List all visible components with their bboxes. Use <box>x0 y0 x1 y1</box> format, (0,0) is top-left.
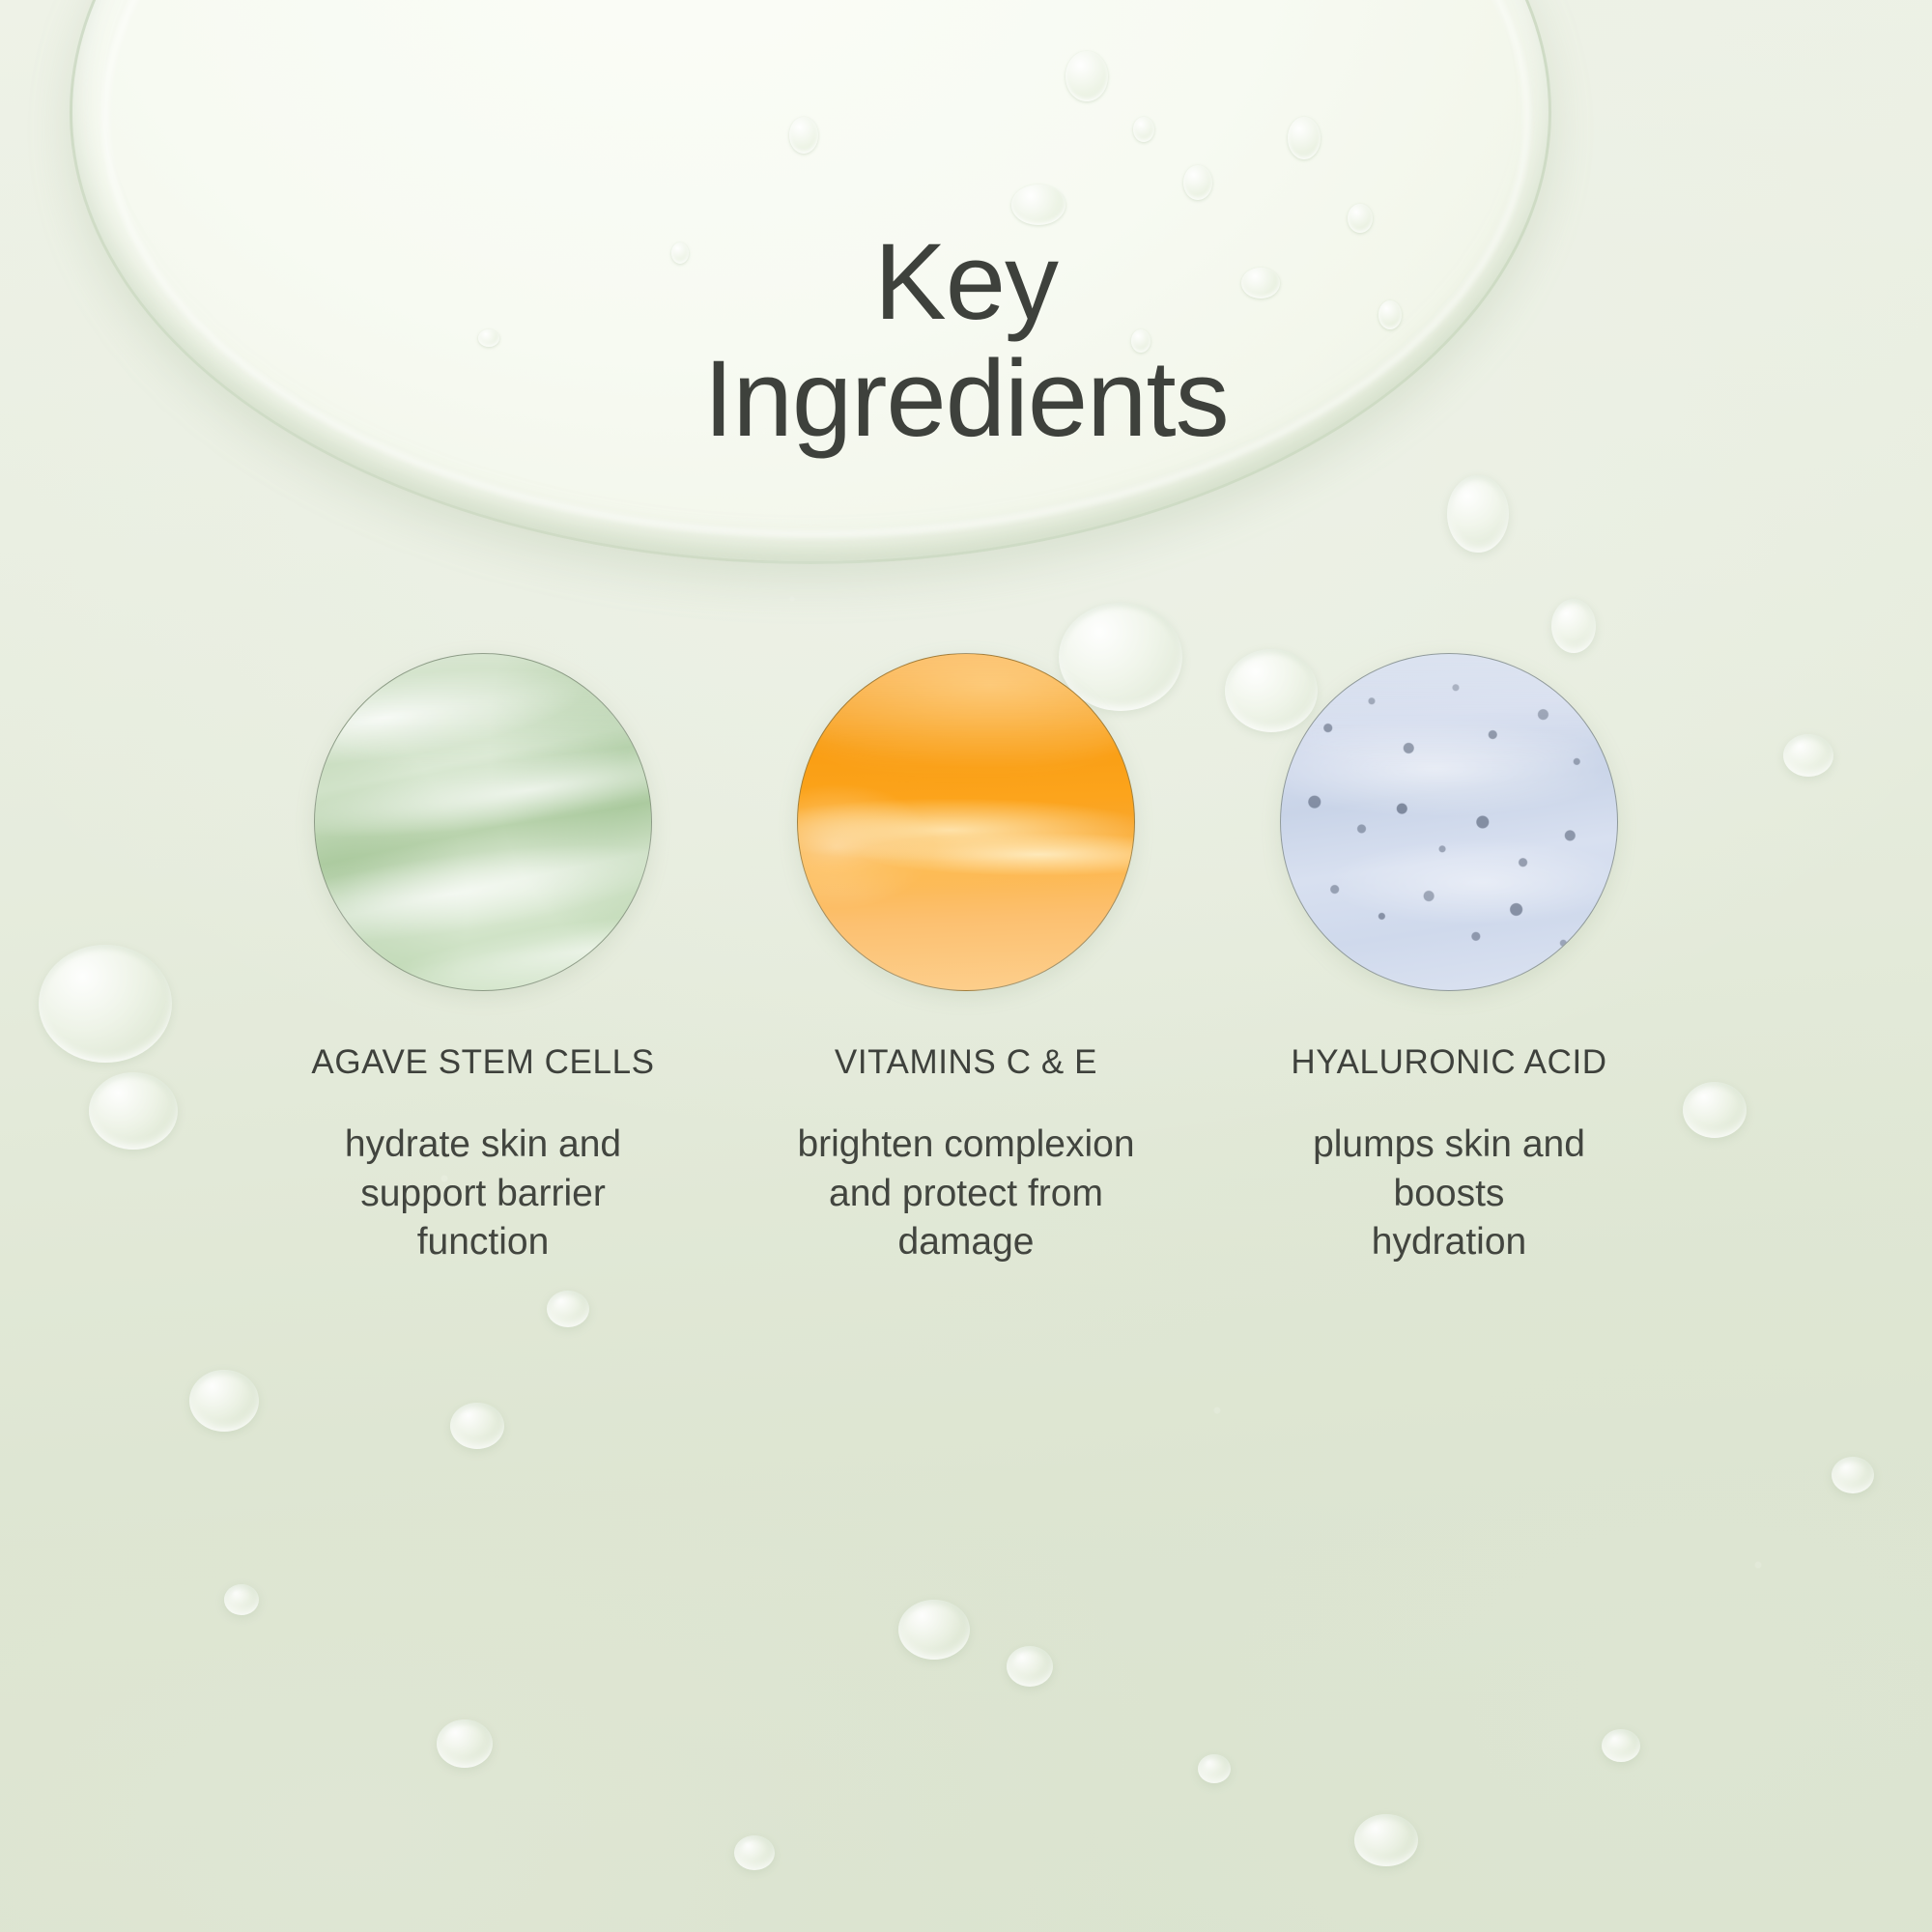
water-droplet <box>1354 1814 1418 1866</box>
title-line-2: Ingredients <box>0 341 1932 458</box>
water-droplet <box>224 1584 259 1615</box>
water-droplet <box>1551 599 1596 653</box>
dish-droplet <box>1183 165 1212 200</box>
desc-line: brighten complexion <box>797 1121 1134 1170</box>
ingredient-description: brighten complexion and protect from dam… <box>797 1121 1134 1267</box>
title-line-1: Key <box>874 221 1058 342</box>
dish-droplet <box>1288 117 1321 159</box>
dish-droplet <box>1011 185 1065 225</box>
ingredient-description: plumps skin and boosts hydration <box>1313 1121 1585 1267</box>
water-droplet <box>1832 1457 1874 1493</box>
water-droplet <box>547 1291 589 1327</box>
desc-line: boosts <box>1313 1170 1585 1219</box>
swatch-gloss <box>797 653 1135 775</box>
desc-line: support barrier <box>345 1170 621 1219</box>
page-title: Key Ingredients <box>0 224 1932 458</box>
water-droplet <box>1602 1729 1640 1762</box>
desc-line: hydration <box>1313 1218 1585 1267</box>
orange-serum-swatch <box>797 653 1135 991</box>
desc-line: function <box>345 1218 621 1267</box>
swatch-gloss <box>1280 653 1618 775</box>
water-droplet <box>437 1719 493 1768</box>
ingredient-name: HYALURONIC ACID <box>1291 1043 1606 1082</box>
water-droplet <box>898 1600 970 1660</box>
blue-hyaluronic-swatch <box>1280 653 1618 991</box>
ingredient-card-agave-stem-cells: AGAVE STEM CELLS hydrate skin and suppor… <box>275 653 691 1267</box>
green-gel-swatch <box>314 653 652 991</box>
ingredient-name: VITAMINS C & E <box>835 1043 1097 1082</box>
desc-line: damage <box>797 1218 1134 1267</box>
ingredient-card-vitamins-c-and-e: VITAMINS C & E brighten complexion and p… <box>758 653 1174 1267</box>
water-droplet <box>1447 475 1509 553</box>
ingredients-grid: AGAVE STEM CELLS hydrate skin and suppor… <box>0 653 1932 1267</box>
desc-line: hydrate skin and <box>345 1121 621 1170</box>
dish-droplet <box>1133 117 1154 142</box>
water-droplet <box>1007 1646 1053 1687</box>
desc-line: and protect from <box>797 1170 1134 1219</box>
swatch-gloss <box>314 653 652 775</box>
water-droplet <box>734 1835 775 1870</box>
ingredient-name: AGAVE STEM CELLS <box>311 1043 654 1082</box>
water-droplet <box>450 1403 504 1449</box>
desc-line: plumps skin and <box>1313 1121 1585 1170</box>
dish-droplet <box>1065 51 1108 101</box>
key-ingredients-infographic: Key Ingredients AGAVE STEM CELLS hydrate… <box>0 0 1932 1932</box>
ingredient-description: hydrate skin and support barrier functio… <box>345 1121 621 1267</box>
water-droplet <box>1198 1754 1231 1783</box>
water-droplet <box>189 1370 259 1432</box>
ingredient-card-hyaluronic-acid: HYALURONIC ACID plumps skin and boosts h… <box>1241 653 1657 1267</box>
dish-droplet <box>789 117 818 154</box>
